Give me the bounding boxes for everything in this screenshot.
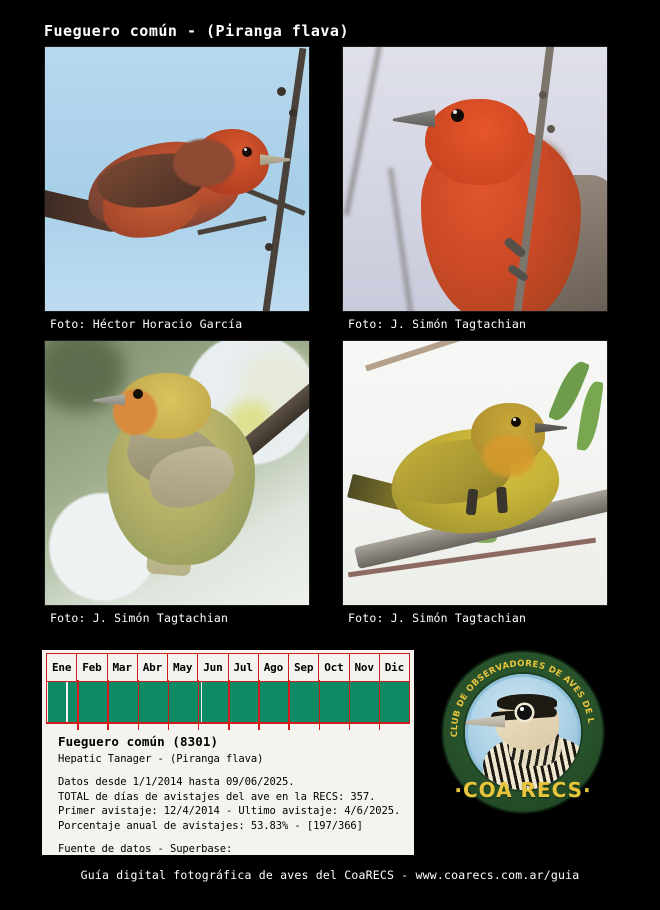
month-label-abr: Abr <box>138 654 168 681</box>
bud-icon <box>289 109 297 117</box>
month-label-ene: Ene <box>47 654 77 681</box>
month-header-row: Ene Feb Mar Abr May Jun Jul Ago Sep Oct … <box>46 653 410 682</box>
species-info: Fueguero común (8301) Hepatic Tanager - … <box>42 724 414 872</box>
month-label-dic: Dic <box>380 654 409 681</box>
photo-caption-1: Foto: Héctor Horacio García <box>44 312 310 340</box>
coarecs-logo[interactable]: CLUB DE OBSERVADORES DE AVES DE LA RESER… <box>443 652 603 812</box>
photo-cell-4: Foto: J. Simón Tagtachian <box>342 340 608 634</box>
bird-throat <box>483 435 535 477</box>
bird-photo-3[interactable] <box>44 340 310 606</box>
bird-eye-highlight <box>513 418 516 421</box>
month-label-sep: Sep <box>289 654 319 681</box>
bird-nape <box>173 139 235 187</box>
month-label-mar: Mar <box>108 654 138 681</box>
sighting-bar <box>64 682 67 722</box>
month-divider <box>107 680 109 730</box>
photo-cell-3: Foto: J. Simón Tagtachian <box>44 340 310 634</box>
month-label-feb: Feb <box>77 654 107 681</box>
species-english-name: Hepatic Tanager - (Piranga flava) <box>58 752 414 767</box>
guide-page: Fueguero común - (Piranga flava) <box>0 0 660 910</box>
bittern-eye-highlight <box>520 707 524 711</box>
spacer <box>58 766 414 775</box>
month-divider <box>319 680 321 730</box>
spacer <box>58 833 414 842</box>
bud-icon <box>539 91 547 99</box>
bittern-bill <box>465 714 505 728</box>
month-divider <box>77 680 79 730</box>
page-title: Fueguero común - (Piranga flava) <box>44 22 349 40</box>
month-label-may: May <box>168 654 198 681</box>
month-label-oct: Oct <box>319 654 349 681</box>
source-label: Fuente de datos - Superbase: <box>58 842 414 857</box>
photo-row-bottom: Foto: J. Simón Tagtachian <box>44 340 616 634</box>
sightings-barcode <box>46 682 410 722</box>
bird-head <box>425 99 529 185</box>
month-divider <box>228 680 230 730</box>
bird-eye-highlight <box>244 148 247 151</box>
bird-photo-1[interactable] <box>44 46 310 312</box>
page-footer: Guía digital fotográfica de aves del Coa… <box>0 868 660 882</box>
month-divider <box>168 680 170 730</box>
bird-photo-4[interactable] <box>342 340 608 606</box>
photo-caption-4: Foto: J. Simón Tagtachian <box>342 606 608 634</box>
bird-photo-2[interactable] <box>342 46 608 312</box>
month-divider <box>379 680 381 730</box>
photo-row-top: Foto: Héctor Horacio García <box>44 46 616 340</box>
sightings-panel: Ene Feb Mar Abr May Jun Jul Ago Sep Oct … <box>42 650 414 855</box>
bird-eye <box>133 389 143 399</box>
total-days-line: TOTAL de días de avistajes del ave en la… <box>58 790 414 805</box>
logo-bird-medallion <box>465 674 581 790</box>
month-label-nov: Nov <box>350 654 380 681</box>
month-divider <box>138 680 140 730</box>
month-label-jun: Jun <box>198 654 228 681</box>
bud-icon <box>265 243 273 251</box>
bud-icon <box>277 87 286 96</box>
species-name: Fueguero común (8301) <box>58 734 414 749</box>
data-range-line: Datos desde 1/1/2014 hasta 09/06/2025. <box>58 775 414 790</box>
logo-acronym: ·COA RECS· <box>443 778 603 802</box>
bird-leg <box>496 487 508 514</box>
photo-cell-2: Foto: J. Simón Tagtachian <box>342 46 608 340</box>
photo-caption-3: Foto: J. Simón Tagtachian <box>44 606 310 634</box>
month-divider <box>349 680 351 730</box>
month-divider <box>288 680 290 730</box>
month-divider <box>198 680 200 730</box>
photo-cell-1: Foto: Héctor Horacio García <box>44 46 310 340</box>
month-label-ago: Ago <box>259 654 289 681</box>
month-label-jul: Jul <box>229 654 259 681</box>
bird-eye-highlight <box>453 110 457 114</box>
first-last-sighting-line: Primer avistaje: 12/4/2014 - Ultimo avis… <box>58 804 414 819</box>
annual-percent-line: Porcentaje anual de avistajes: 53.83% - … <box>58 819 414 834</box>
photo-grid: Foto: Héctor Horacio García <box>44 46 616 634</box>
month-divider <box>258 680 260 730</box>
bud-icon <box>547 125 555 133</box>
photo-caption-2: Foto: J. Simón Tagtachian <box>342 312 608 340</box>
